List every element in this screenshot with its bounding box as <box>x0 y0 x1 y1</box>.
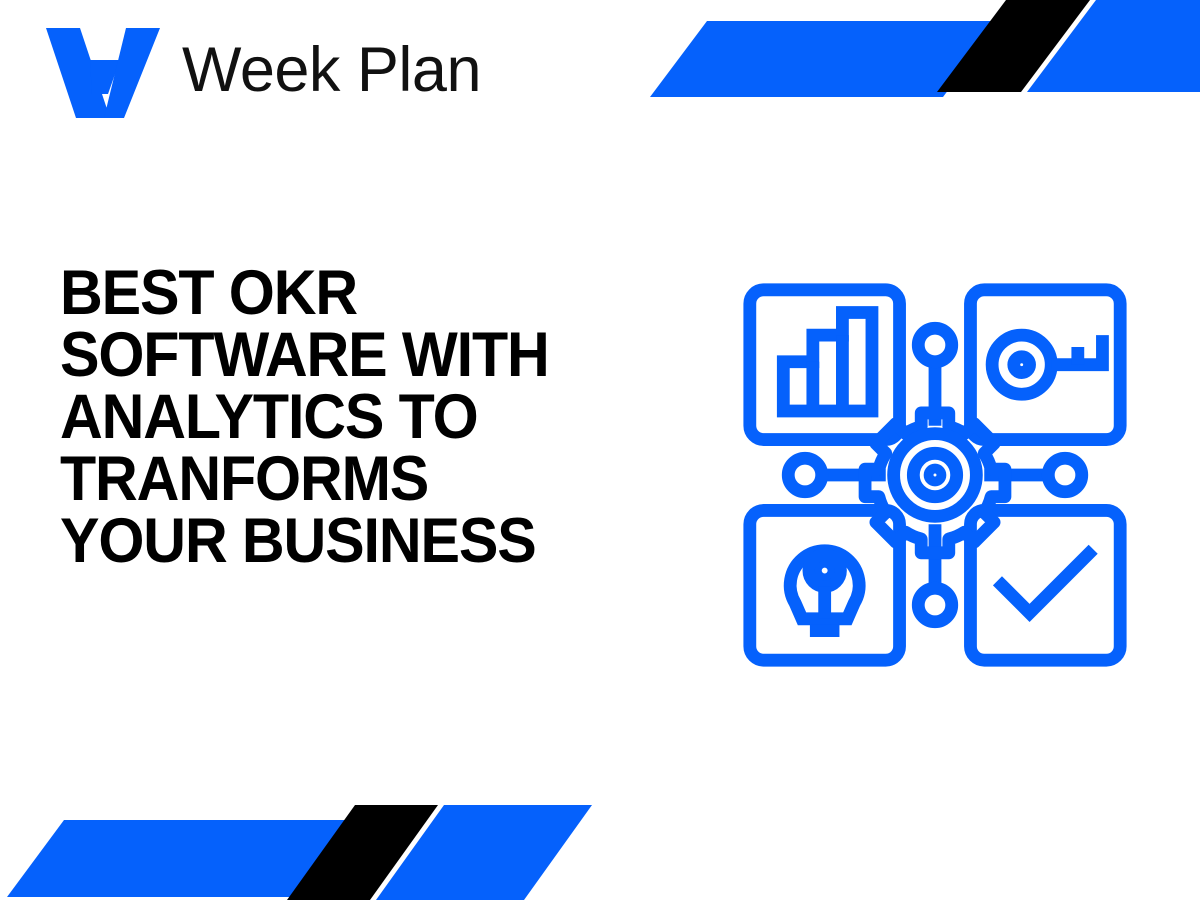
okr-analytics-diagram <box>738 278 1132 672</box>
ribbon-stripe-blue-2 <box>1027 0 1200 92</box>
week-plan-w-logo-icon <box>34 22 166 118</box>
brand-lockup: Week Plan <box>34 22 481 118</box>
checkmark-icon <box>1002 554 1089 613</box>
key-icon <box>992 335 1102 394</box>
panel-bottom-right <box>970 510 1120 660</box>
ribbon-stripe-blue-3 <box>7 820 350 897</box>
headline-line-4: TRANFORMS <box>60 448 662 510</box>
right-node-icon <box>1048 458 1081 491</box>
okr-diagram-svg <box>738 278 1132 672</box>
ribbon-stripe-black-1 <box>937 0 1090 92</box>
ribbon-stripe-blue-1 <box>650 21 1000 97</box>
top-node-icon <box>918 328 951 361</box>
headline-line-3: ANALYTICS TO <box>60 386 662 448</box>
bar-chart-icon <box>783 312 872 411</box>
ribbon-stripe-black-2 <box>287 805 438 900</box>
headline-line-1: BEST OKR <box>60 262 662 324</box>
headline-line-2: SOFTWARE WITH <box>60 324 662 386</box>
left-node-icon <box>788 458 821 491</box>
lightbulb-icon <box>790 551 859 631</box>
banner-canvas: Week Plan BEST OKR SOFTWARE WITH ANALYTI… <box>0 0 1200 900</box>
ribbon-stripe-blue-4 <box>376 805 592 900</box>
brand-name: Week Plan <box>182 39 481 102</box>
bottom-node-icon <box>918 588 951 621</box>
headline-line-5: YOUR BUSINESS <box>60 510 662 572</box>
page-title: BEST OKR SOFTWARE WITH ANALYTICS TO TRAN… <box>60 262 700 572</box>
